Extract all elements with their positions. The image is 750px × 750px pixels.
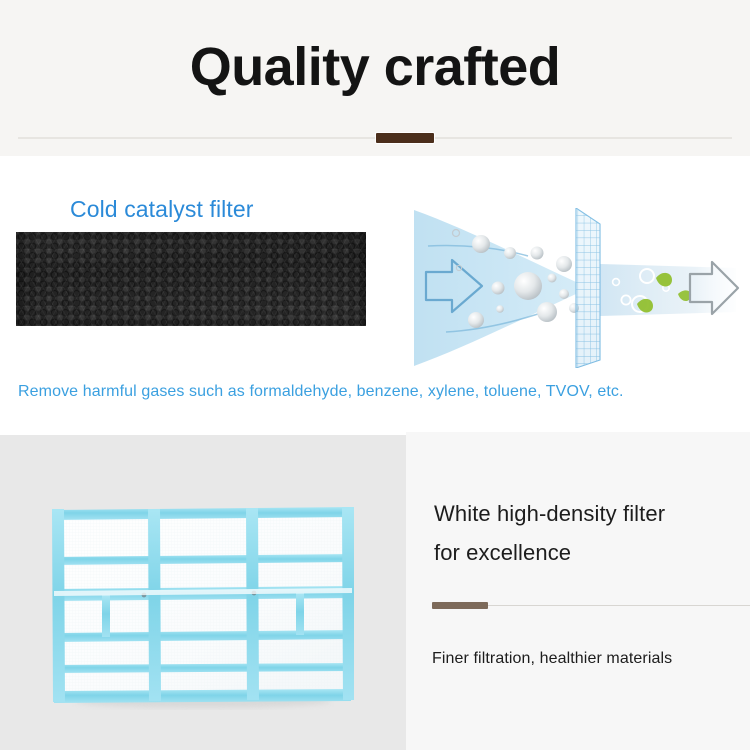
page-title: Quality crafted (0, 36, 750, 98)
product-infographic: Quality crafted Cold catalyst filter (0, 0, 750, 750)
airflow-filtration-diagram (404, 208, 744, 368)
white-filter-image-panel (0, 435, 406, 750)
white-filter-heading: White high-density filter for excellence (434, 494, 734, 572)
activated-carbon-honeycomb-panel (16, 232, 366, 326)
white-high-density-filter-frame (48, 505, 358, 710)
white-filter-subcaption: Finer filtration, healthier materials (432, 650, 672, 668)
header-accent-bar (376, 133, 434, 143)
section-white-high-density-filter: White high-density filter for excellence… (0, 432, 750, 750)
cold-catalyst-heading: Cold catalyst filter (70, 196, 254, 223)
header-band: Quality crafted (0, 0, 750, 156)
white-filter-heading-line1: White high-density filter (434, 494, 734, 533)
section-cold-catalyst-filter: Cold catalyst filter (0, 156, 750, 432)
header-divider-line (18, 137, 732, 139)
cold-catalyst-caption: Remove harmful gases such as formaldehyd… (18, 383, 624, 401)
white-filter-text-panel: White high-density filter for excellence… (406, 432, 750, 750)
white-filter-divider-accent (432, 602, 488, 609)
white-filter-heading-line2: for excellence (434, 533, 734, 572)
